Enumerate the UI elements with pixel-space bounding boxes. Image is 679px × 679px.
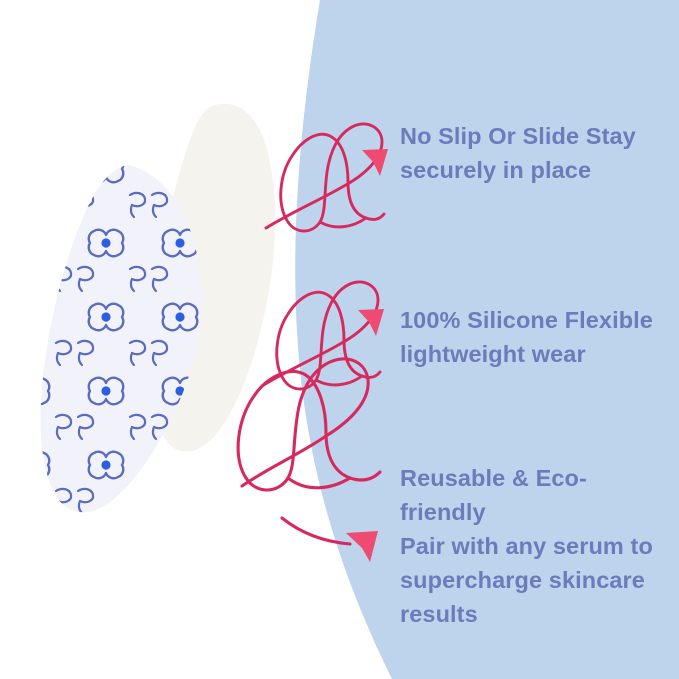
feature-text-silicone: 100% Silicone Flexible lightweight wear — [400, 303, 666, 371]
feature-text-reusable: Reusable & Eco-friendly Pair with any se… — [400, 461, 672, 631]
arrow-head-2 — [346, 531, 378, 562]
feature-text-no-slip: No Slip Or Slide Stay securely in place — [400, 119, 666, 187]
product-feature-graphic: No Slip Or Slide Stay securely in place … — [0, 0, 679, 679]
heart-arrow-icon-0 — [266, 124, 384, 231]
arrow-head-1 — [358, 309, 384, 336]
